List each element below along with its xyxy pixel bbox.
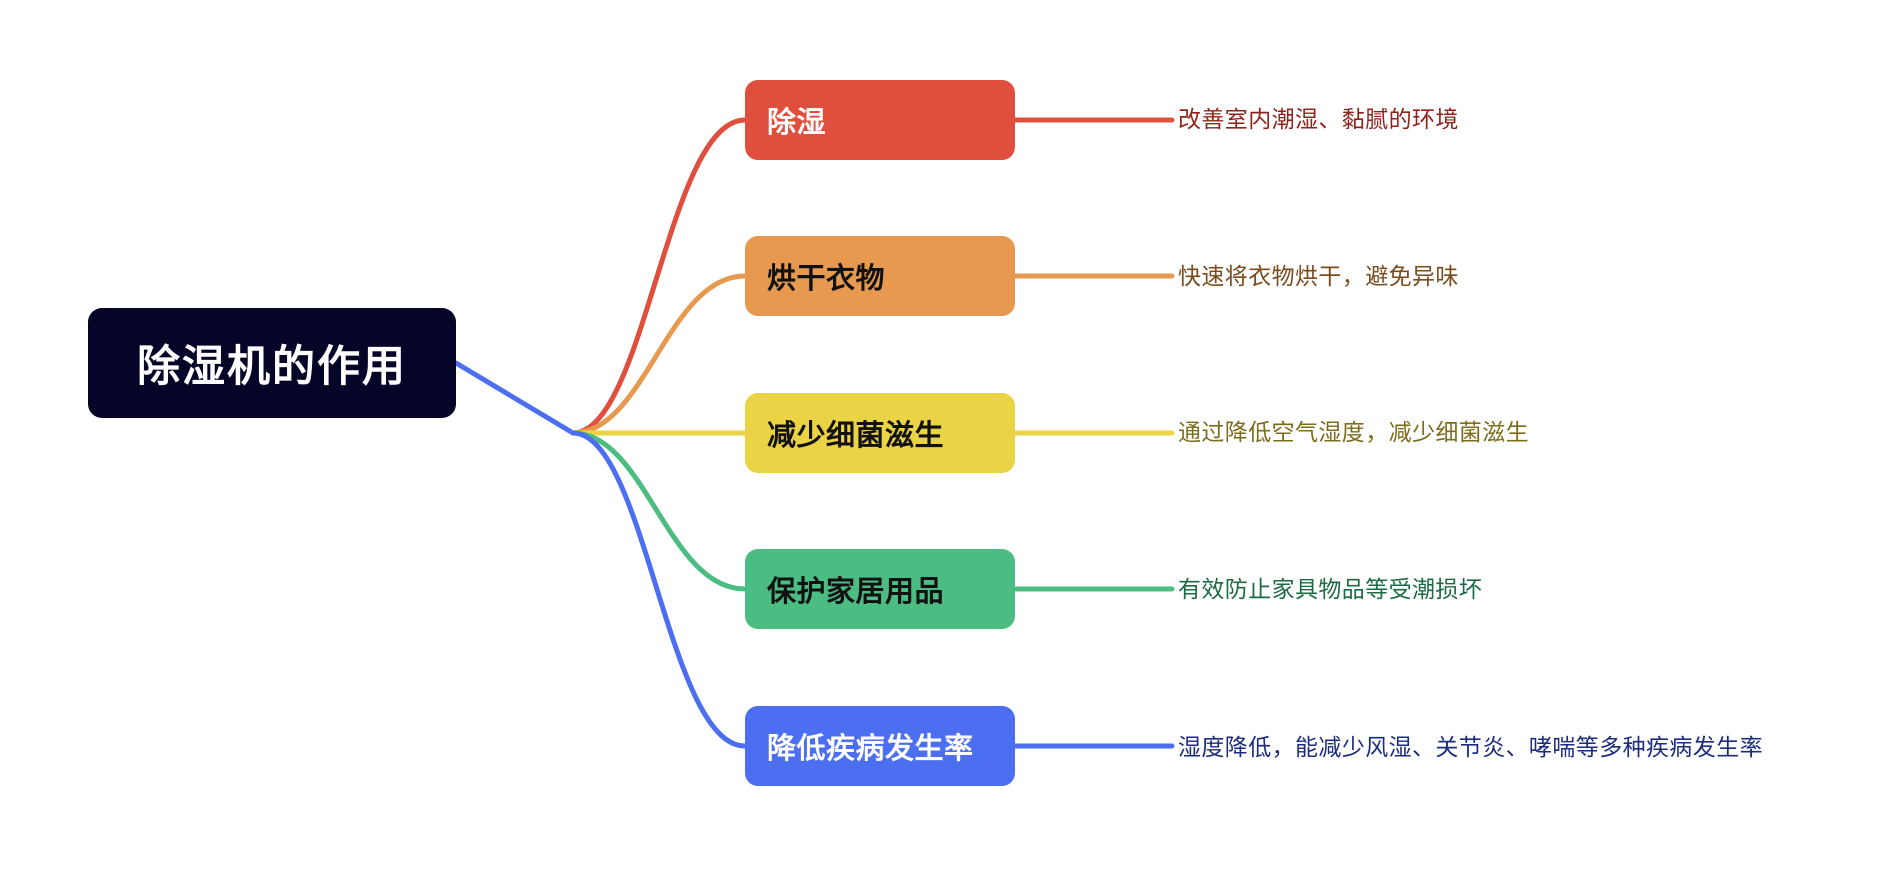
branch-reduce-disease-leaf-text: 湿度降低，能减少风湿、关节炎、哮喘等多种疾病发生率 [1178, 713, 1778, 783]
branch-reduce-disease-node[interactable]: 降低疾病发生率 [745, 706, 1015, 786]
branch-protect-home-leaf-text: 有效防止家具物品等受潮损坏 [1178, 555, 1778, 625]
branch-reduce-bacteria-node-label: 减少细菌滋生 [767, 412, 944, 454]
branch-dry-clothes-leaf-text: 快速将衣物烘干，避免异味 [1178, 242, 1778, 312]
branch-dehumidify-leaf-text: 改善室内潮湿、黏腻的环境 [1178, 85, 1778, 155]
branch-reduce-disease-curve [573, 433, 745, 746]
branch-protect-home-node[interactable]: 保护家居用品 [745, 549, 1015, 629]
mind-map-canvas: 除湿机的作用 除湿烘干衣物减少细菌滋生保护家居用品降低疾病发生率 改善室内潮湿、… [0, 0, 1891, 881]
branch-dry-clothes-node-label: 烘干衣物 [767, 255, 885, 297]
branch-reduce-bacteria-node[interactable]: 减少细菌滋生 [745, 393, 1015, 473]
root-node-label: 除湿机的作用 [137, 332, 407, 394]
branch-protect-home-node-label: 保护家居用品 [767, 568, 944, 610]
branch-reduce-bacteria-leaf-text: 通过降低空气湿度，减少细菌滋生 [1178, 398, 1798, 468]
branch-dry-clothes-curve [573, 276, 745, 433]
branch-reduce-disease-node-label: 降低疾病发生率 [767, 725, 974, 767]
branch-dehumidify-curve [573, 120, 745, 433]
root-node[interactable]: 除湿机的作用 [88, 308, 456, 418]
root-stem-line [456, 363, 573, 433]
branch-dehumidify-node-label: 除湿 [767, 99, 826, 141]
branch-protect-home-curve [573, 433, 745, 589]
branch-dry-clothes-node[interactable]: 烘干衣物 [745, 236, 1015, 316]
branch-dehumidify-node[interactable]: 除湿 [745, 80, 1015, 160]
